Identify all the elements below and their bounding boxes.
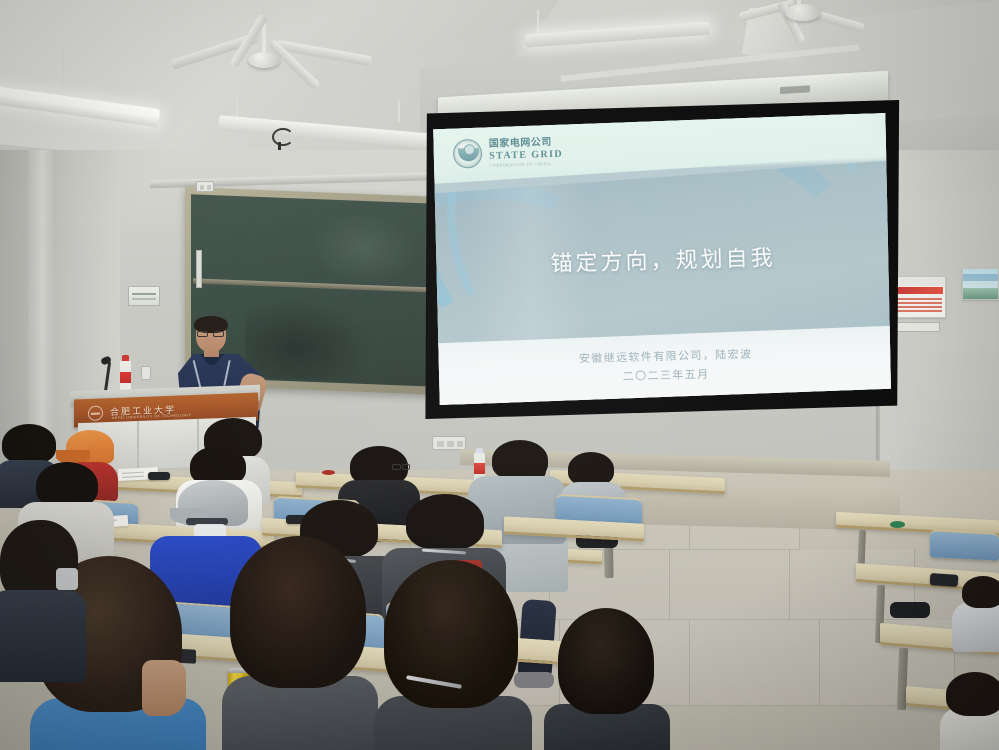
desk-marker [322, 470, 335, 475]
student-right-seat [952, 576, 999, 638]
light-tube [525, 22, 710, 48]
screen-brand-logo [780, 85, 810, 94]
chalk-smudge [309, 210, 417, 287]
presentation-slide: 国家电网公司 STATE GRID CORPORATION OF CHINA 锚… [432, 113, 895, 405]
fan-hub [785, 4, 821, 21]
wall-pillar [28, 150, 54, 470]
wall-switch[interactable] [141, 366, 151, 380]
light-hanger [62, 42, 64, 98]
light-tube [0, 83, 160, 127]
state-grid-logo-text: 国家电网公司 STATE GRID CORPORATION OF CHINA [489, 138, 564, 168]
fluorescent-light-left [0, 42, 180, 134]
student-foreground-far-left [0, 520, 90, 670]
student-hair [568, 452, 614, 486]
student-torso [0, 590, 86, 682]
logo-english-name: STATE GRID [489, 150, 563, 162]
wall-strip [196, 250, 202, 288]
backpack [890, 602, 930, 618]
screen-surface: 国家电网公司 STATE GRID CORPORATION OF CHINA 锚… [432, 113, 895, 405]
student-right-edge [940, 672, 999, 750]
student-hair [2, 424, 56, 464]
glasses-icon [392, 464, 410, 470]
campus-info-poster [962, 268, 999, 300]
fluorescent-light-right [525, 10, 715, 70]
ceiling-fan-left [190, 22, 400, 92]
student-foreground-center [222, 536, 372, 726]
student-foreground-right [378, 560, 528, 750]
hanging-cable-loop [272, 128, 294, 146]
student-face [142, 660, 186, 716]
student-foreground-far-right [544, 608, 664, 750]
student-hair [962, 576, 999, 608]
face-mask [56, 568, 78, 590]
student-hair [230, 536, 366, 688]
projection-screen[interactable]: 国家电网公司 STATE GRID CORPORATION OF CHINA 锚… [424, 100, 902, 420]
chalk-smudge [245, 297, 373, 382]
student-hair [946, 672, 999, 716]
wall-socket[interactable] [196, 181, 214, 192]
student-hair [558, 608, 654, 714]
wall-plaque [128, 286, 160, 306]
student-hair [492, 440, 548, 480]
light-hanger [398, 100, 400, 122]
fan-hub [248, 52, 280, 68]
university-seal-icon [88, 405, 103, 421]
smartphone [148, 472, 170, 480]
desk-sticker [890, 521, 905, 528]
chair [930, 529, 999, 561]
poster-image [963, 288, 998, 299]
wall-socket-center[interactable] [432, 436, 466, 450]
classroom-photo: 国家电网公司 STATE GRID CORPORATION OF CHINA 锚… [0, 0, 999, 750]
state-grid-emblem-icon [453, 139, 483, 169]
poster-band [963, 274, 998, 281]
student-hair [406, 494, 484, 550]
light-hanger [537, 10, 539, 32]
podium-water-bottle [120, 360, 131, 392]
baseball-cap [66, 430, 114, 464]
state-grid-logo: 国家电网公司 STATE GRID CORPORATION OF CHINA [453, 137, 564, 169]
student-torso [952, 602, 999, 652]
glasses-icon [196, 331, 226, 337]
